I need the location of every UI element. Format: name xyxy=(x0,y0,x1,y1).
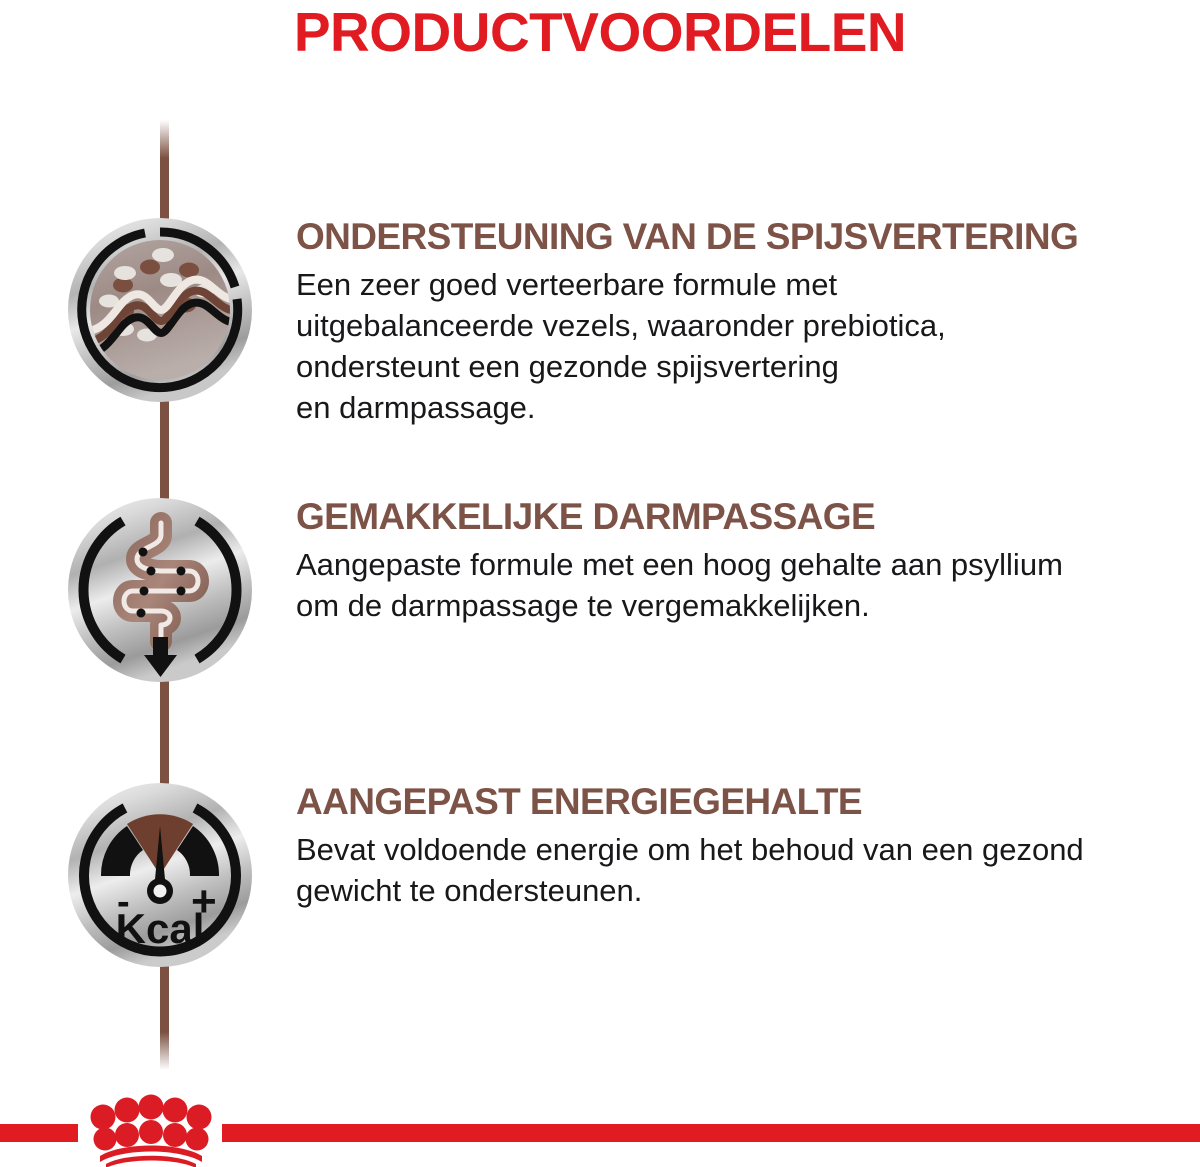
footer xyxy=(0,1090,1200,1167)
benefit-heading: GEMAKKELIJKE DARMPASSAGE xyxy=(296,495,1200,539)
benefit-heading: AANGEPAST ENERGIEGEHALTE xyxy=(296,780,1200,824)
benefit-body: Bevat voldoende energie om het behoud va… xyxy=(296,829,1200,911)
benefit-heading: ONDERSTEUNING VAN DE SPIJSVERTERING xyxy=(296,215,1200,259)
benefit-text: AANGEPAST ENERGIEGEHALTE Bevat voldoende… xyxy=(296,780,1200,911)
kcal-gauge-icon: - + Kcal xyxy=(65,780,255,970)
gauge-kcal-label: Kcal xyxy=(116,905,205,952)
intestinal-transit-icon xyxy=(65,495,255,685)
benefit-body: Aangepaste formule met een hoog gehalte … xyxy=(296,544,1200,626)
footer-bar-right xyxy=(222,1124,1200,1142)
digestion-icon xyxy=(65,215,255,405)
benefit-text: ONDERSTEUNING VAN DE SPIJSVERTERING Een … xyxy=(296,215,1200,428)
benefit-text: GEMAKKELIJKE DARMPASSAGE Aangepaste form… xyxy=(296,495,1200,626)
royal-canin-crown-logo xyxy=(78,1090,224,1167)
footer-bar-left xyxy=(0,1124,78,1142)
page-title: PRODUCTVOORDELEN xyxy=(0,2,1200,62)
benefit-body: Een zeer goed verteerbare formule met ui… xyxy=(296,264,1200,428)
